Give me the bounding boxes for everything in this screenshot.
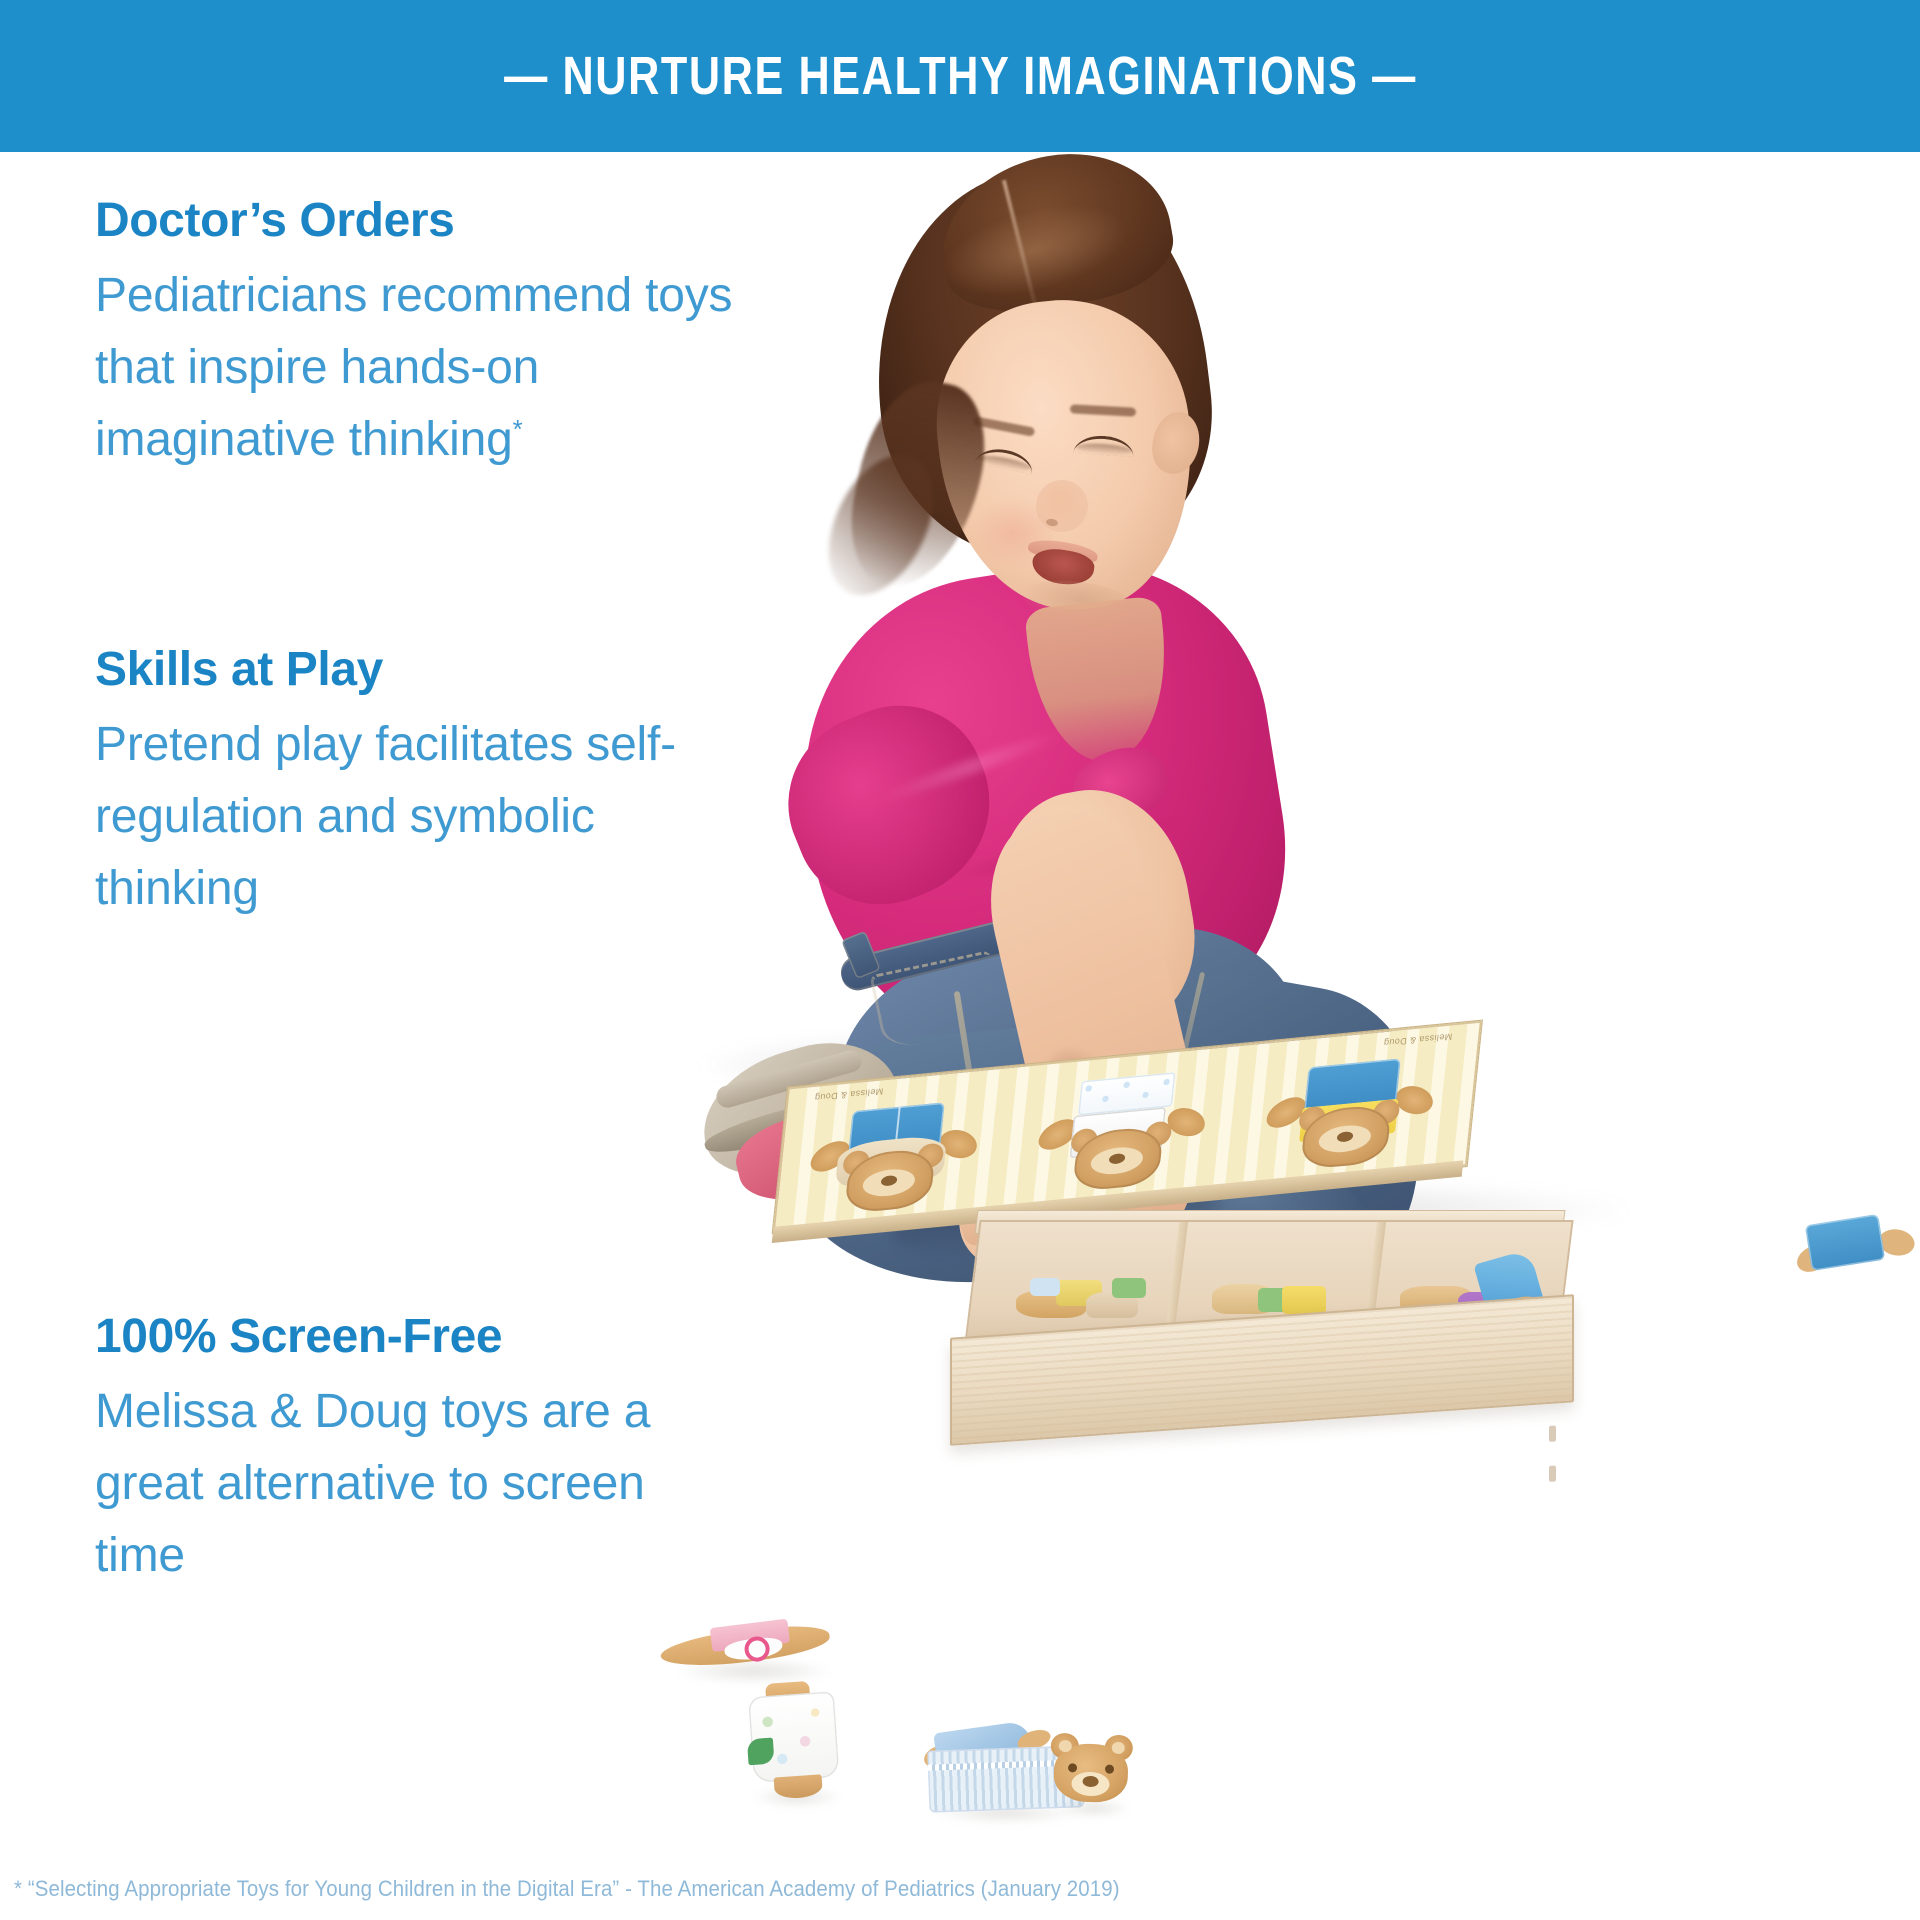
loose-piece-blue-outfit <box>1790 1201 1920 1295</box>
feature-heading: Doctor’s Orders <box>95 196 735 246</box>
header-banner: — NURTURE HEALTHY IMAGINATIONS — <box>0 0 1920 152</box>
feature-block-skills-at-play: Skills at Play Pretend play facilitates … <box>95 645 735 925</box>
dress-piece-bottom <box>774 1774 823 1799</box>
dress-piece-body <box>748 1691 840 1783</box>
feature-block-screen-free: 100% Screen-Free Melissa & Doug toys are… <box>95 1312 735 1592</box>
feature-block-doctors-orders: Doctor’s Orders Pediatricians recommend … <box>95 196 735 476</box>
feature-body: Pediatricians recommend toys that inspir… <box>95 260 735 476</box>
product-photo: Melissa & Doug Melissa & Doug <box>640 150 1920 1870</box>
loose-piece-floral-dress <box>741 1677 849 1804</box>
puzzle-slot-bear-1 <box>798 1084 990 1221</box>
piece <box>1282 1286 1326 1314</box>
header-title: — NURTURE HEALTHY IMAGINATIONS — <box>504 45 1417 107</box>
footnote: * “Selecting Appropriate Toys for Young … <box>14 1876 1316 1902</box>
puzzle-slot-bear-3 <box>1254 1040 1446 1177</box>
piece-blue-body <box>1805 1214 1885 1271</box>
piece <box>1112 1278 1146 1298</box>
feature-body: Pretend play facilitates self-regulation… <box>95 709 735 925</box>
feature-heading: 100% Screen-Free <box>95 1312 735 1362</box>
footnote-marker: * <box>513 414 523 444</box>
nose <box>1036 480 1088 532</box>
tray-joint <box>1549 1425 1556 1441</box>
puzzle-slot-bear-2 <box>1026 1062 1218 1199</box>
feature-body: Melissa & Doug toys are a great alternat… <box>95 1376 735 1592</box>
feature-heading: Skills at Play <box>95 645 735 695</box>
feature-body-text: Pediatricians recommend toys that inspir… <box>95 269 732 466</box>
loose-piece-bear-head <box>1047 1731 1136 1810</box>
piece <box>1030 1278 1060 1296</box>
tray-joint <box>1549 1465 1556 1481</box>
wooden-storage-tray <box>950 1220 1570 1450</box>
